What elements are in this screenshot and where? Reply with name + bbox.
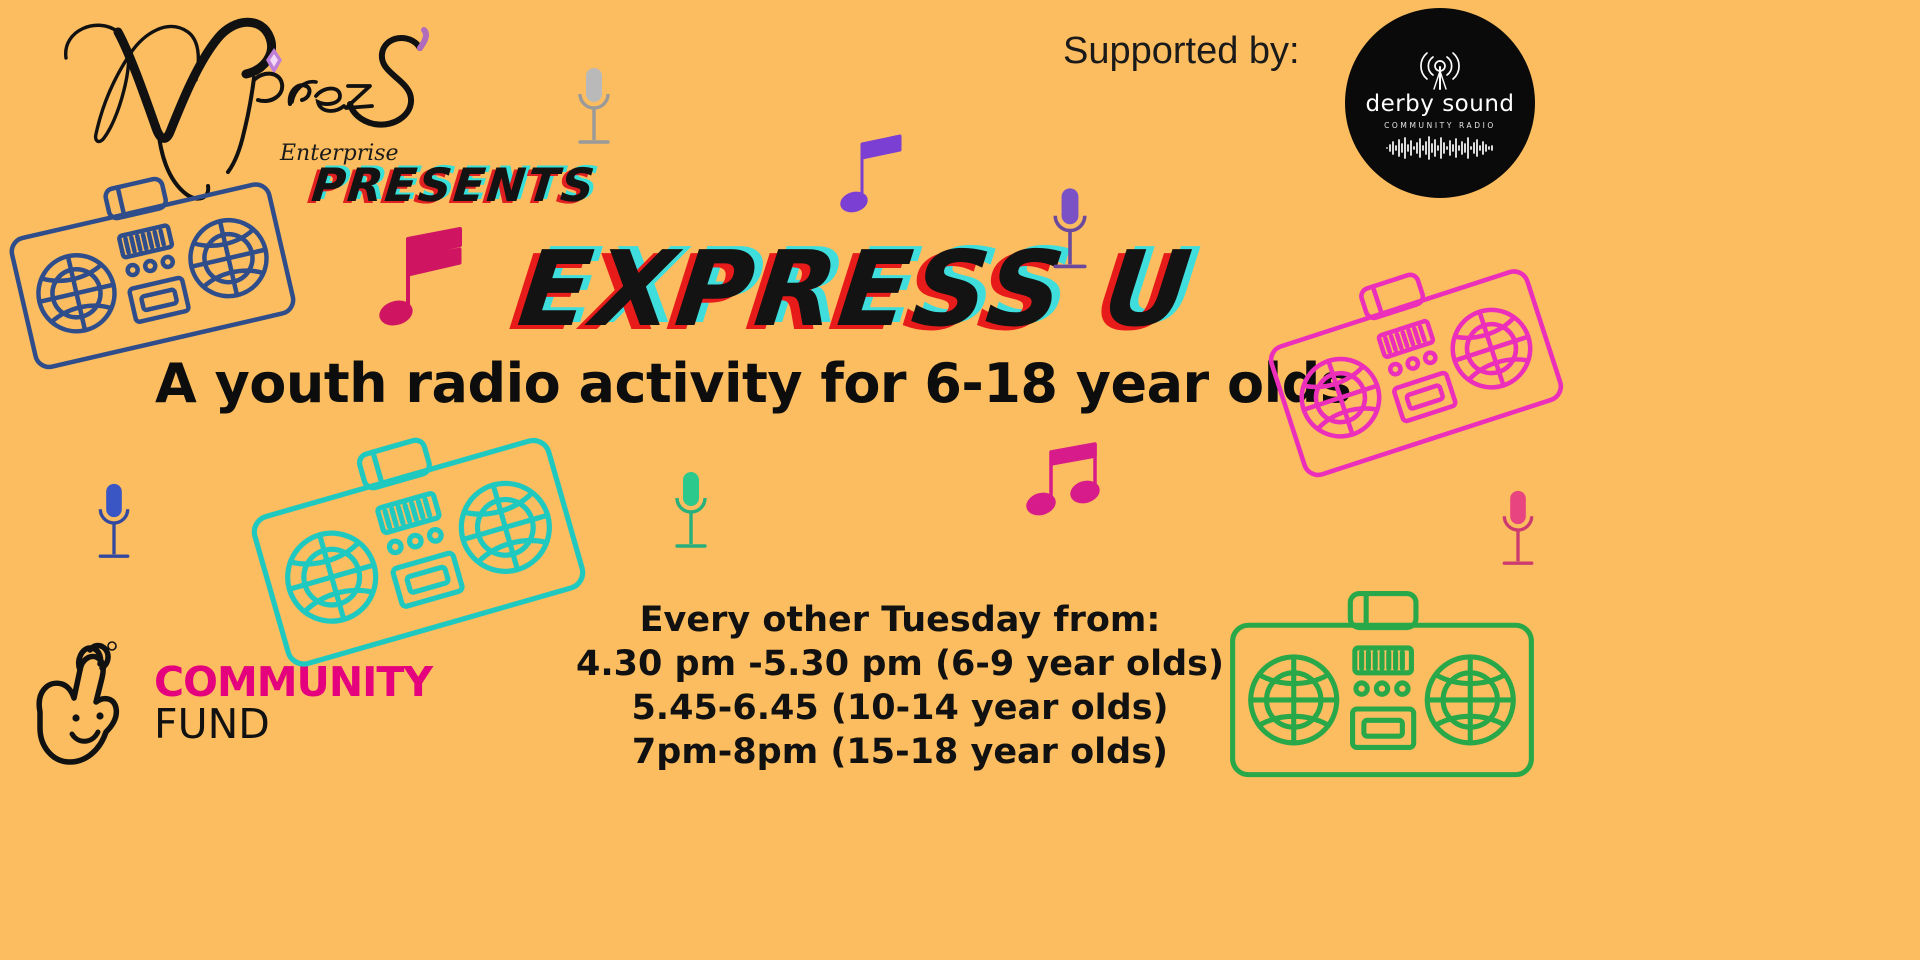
music-note-magenta-small-icon xyxy=(1025,440,1110,525)
schedule-line-3: 7pm-8pm (15-18 year olds) xyxy=(560,730,1240,774)
community-fund-name-bottom: FUND xyxy=(154,703,432,746)
microphone-purple-icon xyxy=(1045,182,1095,277)
poster-canvas: Enterprise PRESENTS EXPRESS U A youth ra… xyxy=(0,0,1920,960)
music-note-purple-icon xyxy=(840,128,910,218)
schedule-block: Every other Tuesday from: 4.30 pm -5.30 … xyxy=(560,598,1240,774)
music-note-magenta-large-icon xyxy=(378,225,473,335)
derby-sound-logo: derby sound COMMUNITY RADIO xyxy=(1345,8,1535,198)
microphone-pink-icon xyxy=(1496,485,1540,573)
microphone-green-icon xyxy=(668,466,714,556)
radio-tower-icon xyxy=(1413,47,1467,91)
derby-sound-name: derby sound xyxy=(1365,93,1514,116)
schedule-line-2: 5.45-6.45 (10-14 year olds) xyxy=(560,686,1240,730)
microphone-grey-icon xyxy=(572,62,616,152)
boombox-teal-icon xyxy=(226,389,604,691)
crossed-fingers-icon xyxy=(28,640,146,768)
boombox-magenta-icon xyxy=(1247,226,1578,500)
schedule-heading: Every other Tuesday from: xyxy=(560,598,1240,642)
audio-waveform-icon xyxy=(1384,136,1496,160)
schedule-line-1: 4.30 pm -5.30 pm (6-9 year olds) xyxy=(560,642,1240,686)
page-subtitle: A youth radio activity for 6-18 year old… xyxy=(155,352,1351,415)
boombox-green-icon xyxy=(1222,580,1542,795)
presents-label: PRESENTS xyxy=(309,158,599,212)
microphone-blue-icon xyxy=(92,478,136,566)
page-title: EXPRESS U xyxy=(513,228,1200,350)
derby-sound-tagline: COMMUNITY RADIO xyxy=(1384,121,1496,130)
supported-by-label: Supported by: xyxy=(1063,30,1300,73)
